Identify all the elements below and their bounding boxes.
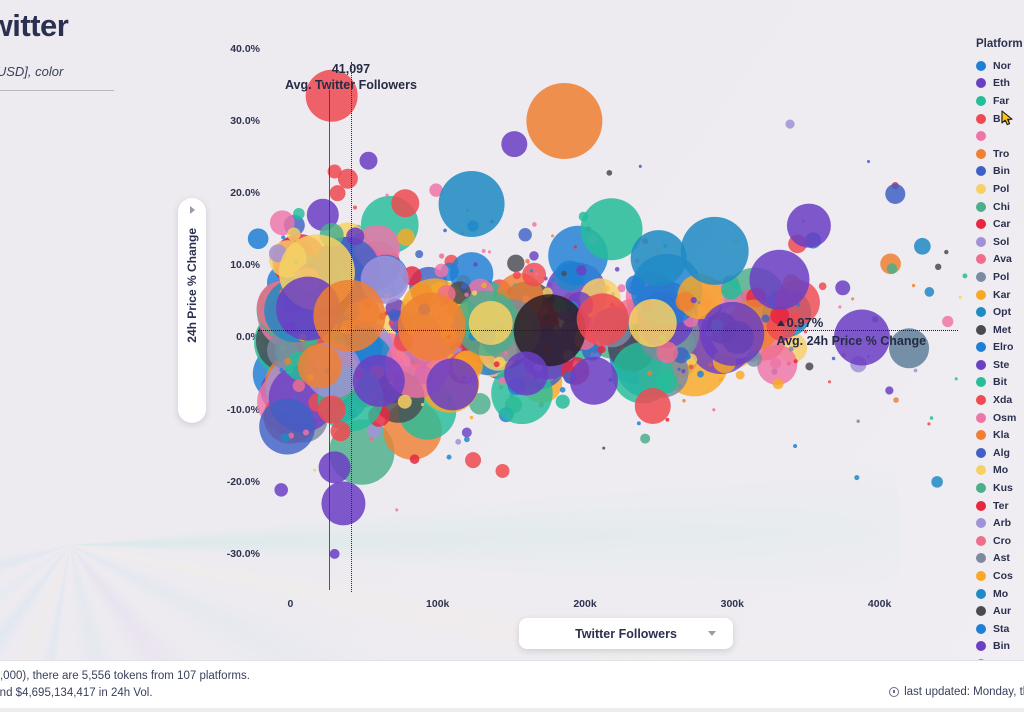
bubble[interactable] bbox=[551, 234, 554, 237]
bubble[interactable] bbox=[606, 170, 612, 176]
bubble[interactable] bbox=[513, 271, 521, 279]
y-axis-tick: -10.0% bbox=[227, 404, 260, 416]
legend-item-label: Met bbox=[993, 324, 1011, 336]
legend-item[interactable]: Ter bbox=[972, 497, 1024, 515]
bubble[interactable] bbox=[338, 169, 358, 189]
triangle-up-icon bbox=[777, 320, 785, 326]
legend-item[interactable]: Nor bbox=[972, 57, 1024, 75]
bubble[interactable] bbox=[749, 250, 809, 310]
legend-color-swatch bbox=[976, 553, 986, 563]
bubble[interactable] bbox=[560, 387, 566, 393]
chevron-down-icon bbox=[708, 631, 716, 636]
legend-item[interactable]: Aur bbox=[972, 602, 1024, 620]
last-updated-text: last updated: Monday, the 24th of Oct'22 bbox=[904, 686, 1024, 698]
legend-color-swatch bbox=[976, 395, 986, 405]
bubble[interactable] bbox=[462, 428, 472, 438]
bubble[interactable] bbox=[709, 363, 712, 366]
bubble[interactable] bbox=[914, 238, 931, 255]
legend-color-swatch bbox=[976, 131, 986, 141]
bubble[interactable] bbox=[513, 283, 516, 286]
bubble[interactable] bbox=[924, 287, 934, 297]
bubble[interactable] bbox=[303, 429, 309, 435]
legend-color-swatch bbox=[976, 272, 986, 282]
legend-item[interactable]: Sta bbox=[972, 620, 1024, 638]
bubble[interactable] bbox=[819, 282, 827, 290]
footer-note: m y) and low volume (<$1,000), there are… bbox=[0, 668, 428, 702]
bubble[interactable] bbox=[574, 245, 577, 248]
bubble[interactable] bbox=[439, 253, 444, 258]
x-average-label: Avg. Twitter Followers bbox=[285, 78, 417, 92]
last-updated-row: last updated: Monday, the 24th of Oct'22 bbox=[889, 686, 1024, 698]
legend-item[interactable]: Pol bbox=[972, 268, 1024, 286]
bubble-scatter-layer[interactable] bbox=[258, 20, 968, 590]
plot-area: 41,097 Avg. Twitter Followers 0.97% Avg.… bbox=[258, 20, 968, 590]
bubble[interactable] bbox=[828, 380, 831, 383]
legend-item[interactable]: Sol bbox=[972, 233, 1024, 251]
bubble[interactable] bbox=[635, 388, 671, 424]
legend-item-label: Ast bbox=[993, 552, 1010, 564]
bubble[interactable] bbox=[494, 361, 500, 367]
legend-item[interactable]: Opt bbox=[972, 303, 1024, 321]
legend-title: Platform bbox=[972, 38, 1024, 50]
legend-item[interactable]: Cro bbox=[972, 532, 1024, 550]
bubble[interactable] bbox=[527, 261, 530, 264]
legend-item[interactable]: Mo bbox=[972, 462, 1024, 480]
bubble[interactable] bbox=[761, 315, 769, 323]
bubble[interactable] bbox=[681, 217, 749, 285]
legend-item-label: Ste bbox=[993, 359, 1009, 371]
bubble[interactable] bbox=[773, 378, 784, 389]
legend-item-label: Sta bbox=[993, 623, 1009, 635]
bubble[interactable] bbox=[426, 358, 478, 410]
bubble[interactable] bbox=[388, 309, 400, 321]
legend-color-swatch bbox=[976, 606, 986, 616]
bubble[interactable] bbox=[298, 344, 342, 388]
legend-item[interactable]: Kus bbox=[972, 479, 1024, 497]
legend-item-label: Chi bbox=[993, 201, 1010, 213]
bubble[interactable] bbox=[697, 371, 704, 378]
bubble[interactable] bbox=[369, 239, 373, 243]
bubble[interactable] bbox=[410, 454, 420, 464]
bubble[interactable] bbox=[689, 365, 694, 370]
legend-item-label: Cos bbox=[993, 570, 1013, 582]
legend-item[interactable]: Far bbox=[972, 92, 1024, 110]
x-axis-tick: 0 bbox=[287, 598, 293, 610]
legend-color-swatch bbox=[976, 413, 986, 423]
y-average-value-row: 0.97% bbox=[777, 314, 824, 331]
bubble[interactable] bbox=[677, 368, 680, 371]
legend-color-swatch bbox=[976, 202, 986, 212]
legend-item-label: Cro bbox=[993, 535, 1011, 547]
legend-color-swatch bbox=[976, 589, 986, 599]
legend-item-label: Pol bbox=[993, 271, 1009, 283]
bubble[interactable] bbox=[856, 420, 859, 423]
legend-item[interactable]: Ast bbox=[972, 550, 1024, 568]
legend-item-label: Eth bbox=[993, 77, 1010, 89]
x-axis-tick: 100k bbox=[426, 598, 449, 610]
bubble[interactable] bbox=[346, 227, 364, 245]
bubble[interactable] bbox=[248, 228, 269, 249]
header-divider bbox=[0, 90, 114, 91]
y-average-value: 0.97% bbox=[787, 315, 824, 330]
bubble[interactable] bbox=[787, 204, 831, 248]
bubble[interactable] bbox=[385, 194, 388, 197]
bubble[interactable] bbox=[469, 301, 513, 345]
bubble[interactable] bbox=[397, 229, 414, 246]
bubble[interactable] bbox=[662, 359, 666, 363]
y-axis-tick: -20.0% bbox=[227, 476, 260, 488]
bubble[interactable] bbox=[885, 184, 905, 204]
x-average-solid-line bbox=[329, 90, 330, 590]
bubble[interactable] bbox=[615, 267, 620, 272]
bubble[interactable] bbox=[551, 278, 555, 282]
legend-color-swatch bbox=[976, 149, 986, 159]
legend-item-list: NorEthFarBinTroBinPolChiCarSolAvaPolKarO… bbox=[972, 57, 1024, 712]
footer: m y) and low volume (<$1,000), there are… bbox=[0, 660, 1024, 712]
legend-item-label: Alg bbox=[993, 447, 1010, 459]
legend-color-swatch bbox=[976, 290, 986, 300]
bubble[interactable] bbox=[330, 549, 340, 559]
x-axis-tick: 400k bbox=[868, 598, 891, 610]
bubble[interactable] bbox=[359, 152, 377, 170]
legend-color-swatch bbox=[976, 237, 986, 247]
bubble[interactable] bbox=[313, 280, 385, 352]
bubble[interactable] bbox=[464, 437, 470, 443]
bubble[interactable] bbox=[698, 301, 701, 304]
bubble[interactable] bbox=[284, 358, 291, 365]
bubble[interactable] bbox=[274, 483, 288, 497]
bubble[interactable] bbox=[318, 396, 346, 424]
y-axis-selector-label: 24h Price % Change bbox=[185, 228, 199, 343]
bubble[interactable] bbox=[785, 119, 794, 128]
legend-color-swatch bbox=[976, 501, 986, 511]
legend-item[interactable]: Arb bbox=[972, 514, 1024, 532]
legend-color-swatch bbox=[976, 96, 986, 106]
bubble[interactable] bbox=[666, 418, 670, 422]
bubble[interactable] bbox=[794, 359, 798, 363]
legend-item-label: Ava bbox=[993, 253, 1012, 265]
x-axis-tick: 300k bbox=[721, 598, 744, 610]
bubble[interactable] bbox=[391, 189, 419, 217]
legend-color-swatch bbox=[976, 483, 986, 493]
bubble[interactable] bbox=[434, 264, 448, 278]
clock-icon bbox=[889, 687, 899, 697]
legend-item-label: Pol bbox=[993, 183, 1009, 195]
legend-item[interactable]: Ava bbox=[972, 251, 1024, 269]
legend-color-swatch bbox=[976, 254, 986, 264]
legend-color-swatch bbox=[976, 430, 986, 440]
legend-item-label: Far bbox=[993, 95, 1009, 107]
bubble[interactable] bbox=[629, 299, 677, 347]
bubble[interactable] bbox=[398, 395, 412, 409]
bubble[interactable] bbox=[313, 469, 316, 472]
x-axis-selector[interactable]: Twitter Followers bbox=[519, 618, 733, 649]
legend-item-label: Ter bbox=[993, 500, 1009, 512]
bubble[interactable] bbox=[944, 250, 948, 254]
bubble[interactable] bbox=[602, 447, 605, 450]
bubble[interactable] bbox=[685, 354, 691, 360]
legend-color-swatch bbox=[976, 219, 986, 229]
bubble[interactable] bbox=[793, 444, 797, 448]
bubble[interactable] bbox=[691, 297, 697, 303]
legend-item[interactable]: Alg bbox=[972, 444, 1024, 462]
legend-item-label: Elro bbox=[993, 341, 1013, 353]
legend-item-label: Nor bbox=[993, 60, 1011, 72]
x-axis-tick: 200k bbox=[573, 598, 596, 610]
mouse-cursor-icon bbox=[1001, 110, 1015, 126]
y-axis-tick: 40.0% bbox=[230, 43, 260, 55]
bubble[interactable] bbox=[504, 352, 548, 396]
page-title: o Twitter bbox=[0, 8, 176, 44]
bubble[interactable] bbox=[959, 296, 962, 299]
bubble[interactable] bbox=[887, 263, 898, 274]
y-average-annotation: 0.97% Avg. 24h Price % Change bbox=[777, 314, 927, 348]
legend-item-label: Mo bbox=[993, 464, 1008, 476]
legend-item[interactable] bbox=[972, 127, 1024, 145]
legend-item[interactable]: Car bbox=[972, 215, 1024, 233]
legend-color-swatch bbox=[976, 518, 986, 528]
bubble[interactable] bbox=[912, 284, 915, 287]
legend-color-swatch bbox=[976, 325, 986, 335]
bubble[interactable] bbox=[832, 357, 835, 360]
bubble[interactable] bbox=[319, 451, 351, 483]
bubble[interactable] bbox=[389, 321, 394, 326]
legend-item-label: Kla bbox=[993, 429, 1009, 441]
legend-item-label: Opt bbox=[993, 306, 1011, 318]
legend-item[interactable]: Met bbox=[972, 321, 1024, 339]
legend-item[interactable]: Kar bbox=[972, 286, 1024, 304]
platform-legend: Platform NorEthFarBinTroBinPolChiCarSolA… bbox=[972, 38, 1024, 712]
bubble[interactable] bbox=[535, 272, 538, 275]
legend-color-swatch bbox=[976, 166, 986, 176]
x-average-annotation: 41,097 Avg. Twitter Followers bbox=[285, 62, 417, 92]
legend-color-swatch bbox=[976, 465, 986, 475]
bubble[interactable] bbox=[464, 293, 468, 297]
legend-item-label: Sol bbox=[993, 236, 1009, 248]
bubble[interactable] bbox=[639, 165, 642, 168]
y-axis-tick: 10.0% bbox=[230, 259, 260, 271]
bubble[interactable] bbox=[287, 228, 301, 242]
legend-item-label: Arb bbox=[993, 517, 1011, 529]
legend-item-label: Bit bbox=[993, 376, 1007, 388]
bubble[interactable] bbox=[719, 377, 723, 381]
y-axis-ticks: 40.0%30.0%20.0%10.0%0.0%-10.0%-20.0%-30.… bbox=[204, 20, 260, 590]
bubble[interactable] bbox=[470, 416, 473, 419]
legend-item[interactable]: Bin bbox=[972, 638, 1024, 656]
legend-item[interactable]: Bit bbox=[972, 374, 1024, 392]
chart-header: o Twitter Volume [USD], color bbox=[0, 8, 176, 91]
y-axis-tick: 20.0% bbox=[230, 187, 260, 199]
bubble[interactable] bbox=[867, 160, 870, 163]
legend-item[interactable]: Eth bbox=[972, 75, 1024, 93]
bubble[interactable] bbox=[530, 269, 533, 272]
bubble[interactable] bbox=[885, 386, 893, 394]
bubble[interactable] bbox=[259, 399, 315, 455]
legend-color-swatch bbox=[976, 377, 986, 387]
legend-item-label: Mo bbox=[993, 588, 1008, 600]
bubble[interactable] bbox=[353, 206, 357, 210]
bubble[interactable] bbox=[501, 131, 527, 157]
legend-color-swatch bbox=[976, 342, 986, 352]
bubble-chart-app: o Twitter Volume [USD], color 40.0%30.0%… bbox=[0, 0, 1024, 712]
bubble[interactable] bbox=[447, 455, 452, 460]
legend-item[interactable]: Cos bbox=[972, 567, 1024, 585]
legend-color-swatch bbox=[976, 114, 986, 124]
bubble[interactable] bbox=[700, 302, 764, 366]
legend-color-swatch bbox=[976, 61, 986, 71]
legend-color-swatch bbox=[976, 536, 986, 546]
bubble[interactable] bbox=[398, 293, 466, 361]
legend-item-label: Tro bbox=[993, 148, 1009, 160]
legend-item[interactable]: Pol bbox=[972, 180, 1024, 198]
bubble[interactable] bbox=[805, 362, 813, 370]
chevron-right-icon bbox=[190, 206, 195, 214]
legend-item[interactable]: Bin bbox=[972, 163, 1024, 181]
bubble[interactable] bbox=[682, 399, 685, 402]
bubble[interactable] bbox=[504, 351, 508, 355]
bubble[interactable] bbox=[935, 264, 941, 270]
legend-item[interactable]: Elro bbox=[972, 339, 1024, 357]
bubble[interactable] bbox=[472, 290, 477, 295]
bubble[interactable] bbox=[507, 255, 524, 272]
legend-color-swatch bbox=[976, 448, 986, 458]
bubble[interactable] bbox=[330, 185, 346, 201]
bubble[interactable] bbox=[942, 316, 953, 327]
bubble[interactable] bbox=[640, 434, 650, 444]
legend-color-swatch bbox=[976, 624, 986, 634]
bubble[interactable] bbox=[681, 369, 685, 373]
y-axis-selector[interactable]: 24h Price % Change bbox=[178, 198, 206, 423]
x-axis-selector-label: Twitter Followers bbox=[575, 627, 677, 641]
bubble[interactable] bbox=[395, 508, 398, 511]
bubble[interactable] bbox=[353, 355, 405, 407]
bubble[interactable] bbox=[962, 273, 967, 278]
bubble[interactable] bbox=[439, 171, 505, 237]
bubble[interactable] bbox=[927, 422, 930, 425]
footer-bottom-bar bbox=[0, 708, 1024, 712]
legend-item[interactable]: Ste bbox=[972, 356, 1024, 374]
x-average-value: 41,097 bbox=[285, 62, 417, 76]
page-subtitle: Volume [USD], color bbox=[0, 64, 176, 79]
bubble[interactable] bbox=[532, 222, 537, 227]
bubble[interactable] bbox=[838, 305, 841, 308]
legend-item-label: Xda bbox=[993, 394, 1012, 406]
bubble[interactable] bbox=[526, 83, 602, 159]
legend-color-swatch bbox=[976, 184, 986, 194]
legend-item-label: Aur bbox=[993, 605, 1011, 617]
legend-item[interactable]: Kla bbox=[972, 426, 1024, 444]
bubble[interactable] bbox=[577, 293, 629, 345]
bubble[interactable] bbox=[293, 380, 305, 392]
bubble[interactable] bbox=[576, 265, 586, 275]
bubble[interactable] bbox=[496, 464, 510, 478]
bubble[interactable] bbox=[281, 434, 290, 443]
legend-color-swatch bbox=[976, 641, 986, 651]
bubble[interactable] bbox=[930, 416, 933, 419]
bubble[interactable] bbox=[473, 262, 477, 266]
legend-item[interactable]: Mo bbox=[972, 585, 1024, 603]
legend-item-label: Bin bbox=[993, 165, 1010, 177]
bubble[interactable] bbox=[461, 283, 468, 290]
data-provider-title: Data provide bbox=[889, 667, 1024, 681]
legend-item[interactable]: Chi bbox=[972, 198, 1024, 216]
legend-color-swatch bbox=[976, 571, 986, 581]
bubble[interactable] bbox=[893, 397, 899, 403]
bubble[interactable] bbox=[570, 357, 618, 405]
y-average-label: Avg. 24h Price % Change bbox=[777, 334, 927, 348]
bubble[interactable] bbox=[295, 395, 298, 398]
bubble[interactable] bbox=[443, 229, 447, 233]
legend-item-label: Bin bbox=[993, 640, 1010, 652]
bubble[interactable] bbox=[712, 408, 715, 411]
bubble[interactable] bbox=[369, 437, 373, 441]
bubble[interactable] bbox=[854, 475, 859, 480]
y-axis-tick: 30.0% bbox=[230, 115, 260, 127]
legend-item-label: Car bbox=[993, 218, 1011, 230]
bubble[interactable] bbox=[556, 395, 570, 409]
bubble[interactable] bbox=[488, 250, 491, 253]
legend-color-swatch bbox=[976, 360, 986, 370]
bubble[interactable] bbox=[465, 452, 481, 468]
bubble[interactable] bbox=[598, 345, 606, 353]
bubble[interactable] bbox=[529, 251, 538, 260]
bubble[interactable] bbox=[647, 371, 652, 376]
bubble[interactable] bbox=[522, 263, 546, 287]
footer-note-line2: 698 in total Market Cap. and $4,695,134,… bbox=[0, 685, 428, 702]
legend-item-label: Osm bbox=[993, 412, 1016, 424]
bubble[interactable] bbox=[421, 403, 424, 406]
bubble[interactable] bbox=[561, 271, 567, 277]
bubble[interactable] bbox=[914, 369, 918, 373]
x-average-reference-line bbox=[351, 62, 352, 592]
legend-item[interactable]: Osm bbox=[972, 409, 1024, 427]
bubble[interactable] bbox=[851, 297, 854, 300]
legend-item-label: Kar bbox=[993, 289, 1011, 301]
bubble[interactable] bbox=[835, 280, 850, 295]
legend-item[interactable]: Bin bbox=[972, 110, 1024, 128]
legend-item[interactable]: Tro bbox=[972, 145, 1024, 163]
bubble[interactable] bbox=[415, 250, 423, 258]
x-axis-ticks: 0100k200k300k400k bbox=[258, 598, 968, 614]
bubble[interactable] bbox=[481, 283, 487, 289]
bubble[interactable] bbox=[955, 377, 958, 380]
legend-color-swatch bbox=[976, 307, 986, 317]
y-axis-tick: -30.0% bbox=[227, 548, 260, 560]
footer-note-line1: m y) and low volume (<$1,000), there are… bbox=[0, 668, 428, 685]
legend-item[interactable]: Xda bbox=[972, 391, 1024, 409]
bubble[interactable] bbox=[285, 366, 294, 375]
bubble[interactable] bbox=[455, 439, 461, 445]
bubble[interactable] bbox=[637, 421, 641, 425]
footer-provider: Data provide last updated: Monday, the 2… bbox=[889, 667, 1024, 698]
bubble[interactable] bbox=[293, 208, 305, 220]
bubble[interactable] bbox=[931, 476, 943, 488]
bubble[interactable] bbox=[518, 228, 531, 241]
legend-color-swatch bbox=[976, 78, 986, 88]
bubble[interactable] bbox=[482, 249, 486, 253]
legend-item-label: Kus bbox=[993, 482, 1013, 494]
bubble[interactable] bbox=[330, 421, 350, 441]
bubble[interactable] bbox=[631, 230, 687, 286]
bubble[interactable] bbox=[736, 371, 745, 380]
bubble[interactable] bbox=[279, 368, 283, 372]
